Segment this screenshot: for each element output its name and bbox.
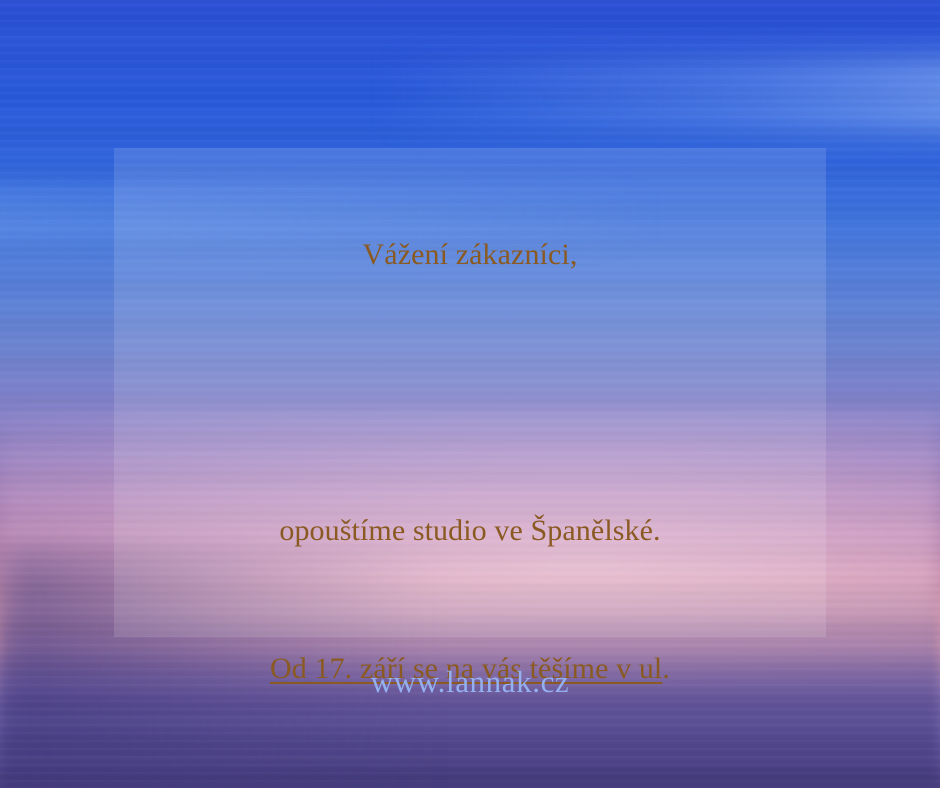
website-url[interactable]: www.lannak.cz	[0, 664, 940, 700]
message-line-3: Řipská 709/26, Praha 3 Vinohrady.	[100, 784, 840, 788]
message-greeting: Vážení zákazníci,	[100, 232, 840, 278]
poster-canvas: Vážení zákazníci, opouštíme studio ve Šp…	[0, 0, 940, 788]
message-line-1: opouštíme studio ve Španělské.	[100, 508, 840, 554]
message-blank-line	[100, 370, 840, 416]
